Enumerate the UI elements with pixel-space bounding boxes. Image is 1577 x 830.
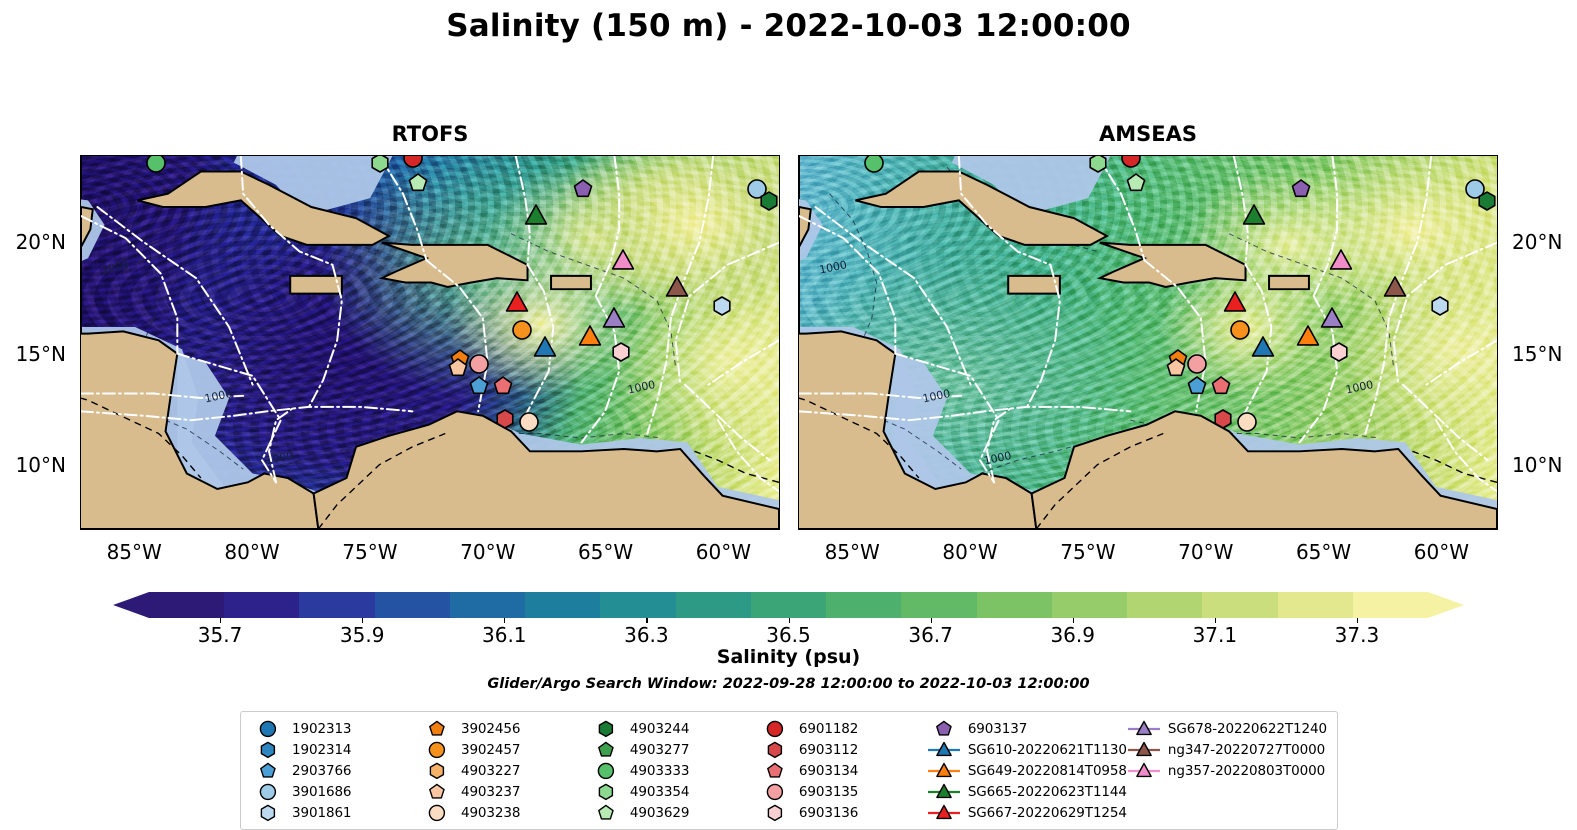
eez-boundary <box>269 407 295 482</box>
legend-item-label: 1902313 <box>292 721 351 737</box>
x-tick-minor <box>559 529 560 530</box>
legend-item-3902456[interactable]: 3902456 <box>420 719 589 738</box>
panel-title-rtofs: RTOFS <box>80 122 780 146</box>
x-axis-label: 85°W <box>825 540 880 564</box>
colorbar-band-9 <box>826 592 901 618</box>
y-tick-minor <box>1497 489 1498 490</box>
geography-overlay: 1000100010001000 <box>81 156 779 529</box>
y-tick-minor <box>779 377 780 378</box>
map-canvas-rtofs[interactable]: 1000100010001000 <box>80 155 780 530</box>
y-tick-major <box>779 466 780 467</box>
glider-track-icon <box>1127 741 1161 759</box>
y-tick-minor <box>798 489 799 490</box>
map-marker-4903629[interactable] <box>406 171 429 194</box>
colorbar-extend-low <box>113 592 149 618</box>
map-marker-4903244[interactable] <box>758 189 780 212</box>
colorbar-tick-label: 36.3 <box>624 623 669 647</box>
x-tick-minor <box>418 529 419 530</box>
glider-track-icon <box>927 741 961 759</box>
panel-title-amseas: AMSEAS <box>798 122 1498 146</box>
y-tick-minor <box>1497 399 1498 400</box>
legend-box: 19023133902456490324469011826903137SG678… <box>240 711 1338 830</box>
map-marker-4903354[interactable] <box>1087 155 1110 174</box>
x-tick-minor <box>654 529 655 530</box>
legend-item-label: 4903333 <box>630 763 689 779</box>
legend-item-label: ng357-20220803T0000 <box>1168 763 1325 779</box>
x-axis-label: 70°W <box>460 540 515 564</box>
map-marker-4903629[interactable] <box>1124 171 1147 194</box>
x-tick-major <box>1089 529 1090 530</box>
y-tick-major <box>779 355 780 356</box>
legend-item-label: 3901686 <box>292 784 351 800</box>
map-marker-6903137[interactable] <box>571 178 594 201</box>
legend-item-4903244[interactable]: 4903244 <box>589 719 758 738</box>
x-tick-minor <box>583 529 584 530</box>
y-tick-minor <box>798 444 799 445</box>
figure-canvas: Salinity (150 m) - 2022-10-03 12:00:00 R… <box>0 0 1577 827</box>
x-tick-major <box>371 529 372 530</box>
hexagon-marker-icon <box>251 804 285 822</box>
x-axis-label: 80°W <box>942 540 997 564</box>
landmass-colombia_ven <box>314 411 779 529</box>
circle-marker-icon <box>251 720 285 738</box>
legend-item-label: 4903277 <box>630 742 689 758</box>
x-axis-label: 60°W <box>1414 540 1469 564</box>
pentagon-marker-icon <box>589 804 623 822</box>
map-marker-6903137[interactable] <box>1289 178 1312 201</box>
glider-track-icon <box>1127 762 1161 780</box>
legend-item-label: SG678-20220622T1240 <box>1168 721 1327 737</box>
x-axis-label: 65°W <box>1296 540 1351 564</box>
colorbar-band-6 <box>600 592 675 618</box>
colorbar-band-3 <box>375 592 450 618</box>
map-marker-SG667-20220629T1254[interactable] <box>503 290 530 317</box>
legend-item-4903629[interactable]: 4903629 <box>589 803 758 822</box>
x-tick-major <box>135 529 136 530</box>
map-marker-6903135[interactable] <box>468 352 491 375</box>
y-tick-minor <box>798 332 799 333</box>
legend-item-3901861[interactable]: 3901861 <box>251 803 420 822</box>
y-tick-minor <box>779 511 780 512</box>
map-marker-SG678-20220622T1240[interactable] <box>600 305 627 332</box>
legend-item-SG610-20220621T1130[interactable]: SG610-20220621T1130 <box>927 740 1127 759</box>
colorbar-band-1 <box>224 592 299 618</box>
x-tick-major <box>1442 529 1443 530</box>
x-tick-major <box>253 529 254 530</box>
map-marker-6903136[interactable] <box>609 341 632 364</box>
map-marker-6903136[interactable] <box>1327 341 1350 364</box>
x-tick-major <box>489 529 490 530</box>
legend-item-SG678-20220622T1240[interactable]: SG678-20220622T1240 <box>1127 719 1327 738</box>
y-axis-label: 15°N <box>1512 342 1562 366</box>
pentagon-marker-icon <box>758 762 792 780</box>
map-marker-ng347-20220727T0000[interactable] <box>664 274 691 301</box>
y-tick-minor <box>798 221 799 222</box>
y-axis-label: 20°N <box>16 230 66 254</box>
map-marker-6903112[interactable] <box>1212 408 1235 431</box>
x-tick-minor <box>677 529 678 530</box>
y-tick-minor <box>779 265 780 266</box>
y-tick-minor <box>1497 377 1498 378</box>
landmass-jamaica <box>290 276 342 294</box>
y-tick-major <box>80 355 81 356</box>
legend-item-6903134[interactable]: 6903134 <box>758 761 927 780</box>
y-tick-minor <box>1497 444 1498 445</box>
hexagon-marker-icon <box>758 741 792 759</box>
map-marker-4903333[interactable] <box>863 155 886 174</box>
circle-marker-icon <box>420 741 454 759</box>
hexagon-marker-icon <box>589 783 623 801</box>
map-marker-6901182[interactable] <box>402 155 425 170</box>
map-canvas-amseas[interactable]: 1000100010001000 <box>798 155 1498 530</box>
colorbar-tick-label: 37.1 <box>1193 623 1238 647</box>
landmass-jamaica <box>1008 276 1060 294</box>
x-tick-minor <box>630 529 631 530</box>
legend-item-label: 6903135 <box>799 784 858 800</box>
map-marker-ng347-20220727T0000[interactable] <box>1382 274 1409 301</box>
y-tick-major <box>1497 355 1498 356</box>
landmass-colombia_ven <box>1032 411 1497 529</box>
legend-item-label: SG667-20220629T1254 <box>968 805 1127 821</box>
colorbar-tick-label: 35.9 <box>340 623 385 647</box>
x-tick-major <box>1207 529 1208 530</box>
y-axis-label: 10°N <box>16 453 66 477</box>
circle-marker-icon <box>251 783 285 801</box>
map-marker-2903766[interactable] <box>1186 374 1209 397</box>
map-marker-SG665-20220623T1144[interactable] <box>522 203 549 230</box>
x-tick-major <box>1325 529 1326 530</box>
bathymetry-label: 1000 <box>818 258 848 276</box>
y-axis-label: 10°N <box>1512 453 1562 477</box>
legend-item-label: 3902456 <box>461 721 520 737</box>
eez-boundary <box>647 318 671 433</box>
y-tick-minor <box>1497 221 1498 222</box>
y-tick-minor <box>80 489 81 490</box>
bathymetry-label: 1000 <box>100 258 130 276</box>
x-tick-minor <box>1136 529 1137 530</box>
x-tick-minor <box>924 529 925 530</box>
colorbar-tick-label: 37.3 <box>1335 623 1380 647</box>
legend-item-4903277[interactable]: 4903277 <box>589 740 758 759</box>
colorbar-label: Salinity (psu) <box>0 646 1577 668</box>
y-tick-major <box>1497 243 1498 244</box>
legend-item-label: 4903238 <box>461 805 520 821</box>
legend-item-label: 2903766 <box>292 763 351 779</box>
legend-item-label: 1902314 <box>292 742 351 758</box>
y-tick-minor <box>798 310 799 311</box>
legend-item-4903237[interactable]: 4903237 <box>420 782 589 801</box>
map-marker-2903766[interactable] <box>468 374 491 397</box>
y-tick-minor <box>798 288 799 289</box>
y-tick-minor <box>1497 288 1498 289</box>
colorbar-band-13 <box>1127 592 1202 618</box>
legend-item-6901182[interactable]: 6901182 <box>758 719 927 738</box>
y-tick-minor <box>779 198 780 199</box>
x-tick-minor <box>772 529 773 530</box>
map-marker-SG649-20220814T0958[interactable] <box>1294 323 1321 350</box>
y-tick-minor <box>80 444 81 445</box>
legend-item-2903766[interactable]: 2903766 <box>251 761 420 780</box>
x-tick-minor <box>1018 529 1019 530</box>
map-marker-4903354[interactable] <box>369 155 392 174</box>
legend-item-4903227[interactable]: 4903227 <box>420 761 589 780</box>
eez-boundary <box>1365 318 1389 433</box>
y-tick-major <box>798 355 799 356</box>
y-tick-minor <box>80 422 81 423</box>
bathymetry-label: 1000 <box>627 378 657 396</box>
legend-item-label: 4903354 <box>630 784 689 800</box>
colorbar-extend-high <box>1428 592 1464 618</box>
y-tick-minor <box>798 377 799 378</box>
legend-item-1902313[interactable]: 1902313 <box>251 719 420 738</box>
y-tick-minor <box>80 265 81 266</box>
colorbar-band-14 <box>1202 592 1277 618</box>
map-marker-3902457[interactable] <box>1228 319 1251 342</box>
glider-track-icon <box>1127 720 1161 738</box>
x-tick-minor <box>465 529 466 530</box>
colorbar-tick-label: 36.1 <box>482 623 527 647</box>
x-axis-label: 75°W <box>1060 540 1115 564</box>
colorbar-band-0 <box>149 592 224 618</box>
y-tick-minor <box>80 176 81 177</box>
map-marker-4903238[interactable] <box>1235 410 1258 433</box>
map-marker-6903134[interactable] <box>1209 374 1232 397</box>
x-tick-minor <box>347 529 348 530</box>
legend-item-label: 6901182 <box>799 721 858 737</box>
y-tick-minor <box>779 221 780 222</box>
colorbar-gradient <box>149 592 1428 618</box>
x-axis-label: 60°W <box>696 540 751 564</box>
landmass-puertorico <box>1269 276 1309 289</box>
y-tick-major <box>1497 466 1498 467</box>
map-marker-ng357-20220803T0000[interactable] <box>1327 247 1354 274</box>
glider-track-icon <box>927 762 961 780</box>
map-marker-6903112[interactable] <box>494 408 517 431</box>
x-tick-minor <box>1466 529 1467 530</box>
y-tick-minor <box>80 310 81 311</box>
legend-item-label: 3901861 <box>292 805 351 821</box>
map-marker-3902457[interactable] <box>510 319 533 342</box>
y-tick-minor <box>798 399 799 400</box>
y-tick-minor <box>80 221 81 222</box>
legend-item-4903238[interactable]: 4903238 <box>420 803 589 822</box>
legend-item-ng357-20220803T0000[interactable]: ng357-20220803T0000 <box>1127 761 1327 780</box>
y-tick-minor <box>80 332 81 333</box>
legend-item-6903135[interactable]: 6903135 <box>758 782 927 801</box>
x-axis-label: 85°W <box>107 540 162 564</box>
map-marker-SG667-20220629T1254[interactable] <box>1221 290 1248 317</box>
map-marker-6903134[interactable] <box>491 374 514 397</box>
x-tick-minor <box>1277 529 1278 530</box>
legend-spacer <box>1127 803 1327 822</box>
colorbar: 35.735.936.136.336.536.736.937.137.3 <box>113 592 1464 618</box>
x-tick-minor <box>877 529 878 530</box>
circle-marker-icon <box>758 720 792 738</box>
x-tick-minor <box>995 529 996 530</box>
hexagon-marker-icon <box>758 804 792 822</box>
y-tick-minor <box>798 198 799 199</box>
pentagon-marker-icon <box>251 762 285 780</box>
x-tick-major <box>607 529 608 530</box>
legend-item-1902314[interactable]: 1902314 <box>251 740 420 759</box>
legend-item-label: SG610-20220621T1130 <box>968 742 1127 758</box>
legend-item-label: ng347-20220727T0000 <box>1168 742 1325 758</box>
colorbar-tick-label: 36.7 <box>908 623 953 647</box>
x-tick-minor <box>1112 529 1113 530</box>
y-tick-minor <box>798 265 799 266</box>
x-tick-minor <box>88 529 89 530</box>
x-axis-label: 65°W <box>578 540 633 564</box>
y-tick-minor <box>779 444 780 445</box>
y-tick-minor <box>779 288 780 289</box>
legend-grid: 19023133902456490324469011826903137SG678… <box>251 719 1327 822</box>
legend-item-label: SG665-20220623T1144 <box>968 784 1127 800</box>
glider-track-icon <box>927 804 961 822</box>
legend-item-SG665-20220623T1144[interactable]: SG665-20220623T1144 <box>927 782 1127 801</box>
map-marker-SG649-20220814T0958[interactable] <box>576 323 603 350</box>
colorbar-band-5 <box>525 592 600 618</box>
colorbar-band-10 <box>901 592 976 618</box>
map-marker-6903135[interactable] <box>1186 352 1209 375</box>
bathymetry-label: 1000 <box>1345 378 1375 396</box>
colorbar-band-8 <box>751 592 826 618</box>
map-marker-SG610-20220621T1130[interactable] <box>532 334 559 361</box>
x-tick-minor <box>277 529 278 530</box>
x-tick-minor <box>394 529 395 530</box>
legend-item-6903136[interactable]: 6903136 <box>758 803 927 822</box>
landmass-hispaniola <box>1100 243 1246 287</box>
landmass-hispaniola <box>382 243 528 287</box>
x-axis-label: 75°W <box>342 540 397 564</box>
x-tick-minor <box>1301 529 1302 530</box>
legend-item-3901686[interactable]: 3901686 <box>251 782 420 801</box>
y-tick-minor <box>798 422 799 423</box>
x-tick-minor <box>1348 529 1349 530</box>
y-tick-minor <box>1497 198 1498 199</box>
hexagon-marker-icon <box>589 720 623 738</box>
legend-item-6903137[interactable]: 6903137 <box>927 719 1127 738</box>
map-marker-SG610-20220621T1130[interactable] <box>1250 334 1277 361</box>
eez-boundary <box>718 420 779 491</box>
circle-marker-icon <box>589 762 623 780</box>
x-tick-minor <box>112 529 113 530</box>
legend-item-ng347-20220727T0000[interactable]: ng347-20220727T0000 <box>1127 740 1327 759</box>
pentagon-marker-icon <box>420 720 454 738</box>
y-axis-label: 15°N <box>16 342 66 366</box>
eez-boundary <box>987 407 1013 482</box>
x-tick-minor <box>159 529 160 530</box>
map-marker-4903237[interactable] <box>447 356 470 379</box>
pentagon-marker-icon <box>927 720 961 738</box>
y-tick-major <box>798 243 799 244</box>
x-tick-minor <box>701 529 702 530</box>
page-title: Salinity (150 m) - 2022-10-03 12:00:00 <box>0 8 1577 44</box>
x-tick-minor <box>229 529 230 530</box>
x-tick-minor <box>1254 529 1255 530</box>
x-tick-minor <box>182 529 183 530</box>
hexagon-marker-icon <box>420 762 454 780</box>
x-tick-major <box>724 529 725 530</box>
y-tick-minor <box>798 176 799 177</box>
circle-marker-icon <box>420 804 454 822</box>
map-marker-SG665-20220623T1144[interactable] <box>1240 203 1267 230</box>
eez-boundary <box>709 340 779 384</box>
x-tick-minor <box>830 529 831 530</box>
glider-track-icon <box>927 783 961 801</box>
map-marker-4903333[interactable] <box>145 155 168 174</box>
pentagon-marker-icon <box>420 783 454 801</box>
x-tick-minor <box>900 529 901 530</box>
legend-item-label: 4903237 <box>461 784 520 800</box>
hexagon-marker-icon <box>251 741 285 759</box>
map-marker-ng357-20220803T0000[interactable] <box>609 247 636 274</box>
map-marker-3901861[interactable] <box>710 294 733 317</box>
map-marker-4903244[interactable] <box>1476 189 1498 212</box>
x-tick-minor <box>1160 529 1161 530</box>
search-window-text: Glider/Argo Search Window: 2022-09-28 12… <box>0 676 1577 692</box>
legend-item-3902457[interactable]: 3902457 <box>420 740 589 759</box>
colorbar-tick-label: 35.7 <box>198 623 243 647</box>
legend-item-label: 6903134 <box>799 763 858 779</box>
map-marker-3901861[interactable] <box>1428 294 1451 317</box>
map-marker-SG678-20220622T1240[interactable] <box>1318 305 1345 332</box>
legend-item-label: 6903136 <box>799 805 858 821</box>
x-tick-minor <box>1490 529 1491 530</box>
y-tick-minor <box>1497 332 1498 333</box>
legend-item-6903112[interactable]: 6903112 <box>758 740 927 759</box>
colorbar-band-12 <box>1052 592 1127 618</box>
pentagon-marker-icon <box>589 741 623 759</box>
x-tick-minor <box>947 529 948 530</box>
x-tick-minor <box>1419 529 1420 530</box>
y-tick-minor <box>779 399 780 400</box>
x-tick-major <box>971 529 972 530</box>
y-tick-minor <box>80 377 81 378</box>
y-axis-label: 20°N <box>1512 230 1562 254</box>
x-tick-major <box>853 529 854 530</box>
y-tick-minor <box>779 310 780 311</box>
y-tick-minor <box>1497 265 1498 266</box>
colorbar-tick-label: 36.5 <box>766 623 811 647</box>
eez-boundary <box>685 385 770 460</box>
y-tick-minor <box>1497 422 1498 423</box>
colorbar-band-15 <box>1278 592 1353 618</box>
map-marker-4903237[interactable] <box>1165 356 1188 379</box>
legend-item-SG667-20220629T1254[interactable]: SG667-20220629T1254 <box>927 803 1127 822</box>
colorbar-band-7 <box>676 592 751 618</box>
legend-item-label: 6903112 <box>799 742 858 758</box>
y-tick-minor <box>80 198 81 199</box>
geography-overlay: 1000100010001000 <box>799 156 1497 529</box>
y-tick-major <box>80 466 81 467</box>
x-tick-minor <box>324 529 325 530</box>
y-tick-minor <box>779 489 780 490</box>
legend-item-label: 4903227 <box>461 763 520 779</box>
x-tick-minor <box>442 529 443 530</box>
map-marker-4903238[interactable] <box>517 410 540 433</box>
legend-item-SG649-20220814T0958[interactable]: SG649-20220814T0958 <box>927 761 1127 780</box>
y-tick-minor <box>779 332 780 333</box>
x-axis-label: 80°W <box>224 540 279 564</box>
y-tick-minor <box>80 511 81 512</box>
y-tick-major <box>779 243 780 244</box>
legend-item-label: SG649-20220814T0958 <box>968 763 1127 779</box>
landmass-puertorico <box>551 276 591 289</box>
legend-item-4903333[interactable]: 4903333 <box>589 761 758 780</box>
map-marker-6901182[interactable] <box>1120 155 1143 170</box>
legend-item-4903354[interactable]: 4903354 <box>589 782 758 801</box>
legend-item-label: 6903137 <box>968 721 1027 737</box>
